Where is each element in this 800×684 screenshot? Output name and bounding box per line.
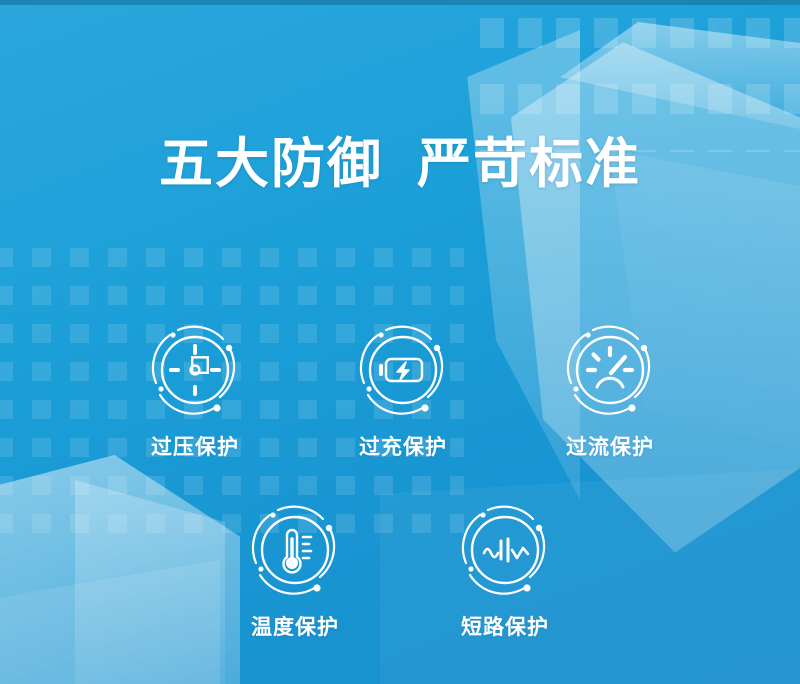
feature-item-overvoltage: 过压保护 xyxy=(115,315,275,461)
compass-icon xyxy=(140,315,250,425)
feature-label: 过压保护 xyxy=(115,431,275,461)
feature-item-temperature: 温度保护 xyxy=(215,495,375,641)
battery-bolt-icon xyxy=(348,315,458,425)
feature-item-overcurrent: 过流保护 xyxy=(530,315,690,461)
thermometer-icon xyxy=(240,495,350,605)
feature-label: 短路保护 xyxy=(425,611,585,641)
feature-item-short-circuit: 短路保护 xyxy=(425,495,585,641)
feature-item-overcharge: 过充保护 xyxy=(323,315,483,461)
poster-canvas: 五大防御 严苛标准 xyxy=(0,0,800,684)
waveform-icon xyxy=(450,495,560,605)
feature-label: 温度保护 xyxy=(215,611,375,641)
feature-label: 过充保护 xyxy=(323,431,483,461)
gauge-icon xyxy=(555,315,665,425)
feature-label: 过流保护 xyxy=(530,431,690,461)
feature-grid: 过压保护 过充保护 xyxy=(0,0,800,684)
